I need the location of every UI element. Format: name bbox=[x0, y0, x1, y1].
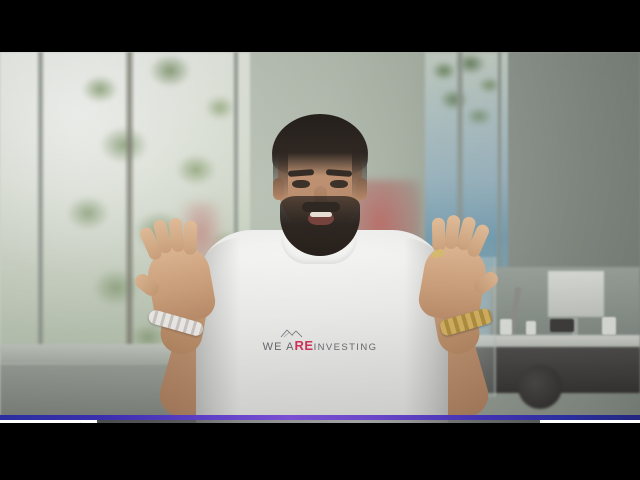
teeth bbox=[310, 212, 332, 217]
hair-sideburn-right bbox=[352, 144, 367, 200]
finger bbox=[184, 221, 198, 255]
presenter-head bbox=[272, 114, 368, 238]
shirt-text-before: WE A bbox=[263, 341, 295, 353]
eye-left bbox=[292, 180, 310, 188]
thumb bbox=[132, 271, 162, 299]
shirt-text-after: INVESTING bbox=[314, 342, 378, 353]
letterbox-bar-top bbox=[0, 0, 640, 52]
shirt-text-highlight: RE bbox=[295, 338, 314, 353]
thumb bbox=[471, 269, 501, 297]
letterbox-bar-bottom bbox=[0, 423, 640, 480]
shirt-wordmark: WE AREINVESTING bbox=[252, 339, 388, 353]
presenter: WE AREINVESTING bbox=[0, 52, 640, 423]
hair-sideburn-left bbox=[273, 144, 288, 200]
shirt-print: WE AREINVESTING bbox=[252, 328, 388, 362]
finger bbox=[432, 218, 446, 252]
eye-right bbox=[330, 180, 348, 188]
lower-third-banner: Sell House NOW CA$H .com THE 3 STEP PROC… bbox=[0, 415, 640, 423]
video-frame: WE AREINVESTING Sell House NOW CA$H .com bbox=[0, 52, 640, 423]
video-player: WE AREINVESTING Sell House NOW CA$H .com bbox=[0, 0, 640, 480]
mustache bbox=[302, 202, 340, 212]
roof-mountain-icon bbox=[280, 328, 310, 338]
